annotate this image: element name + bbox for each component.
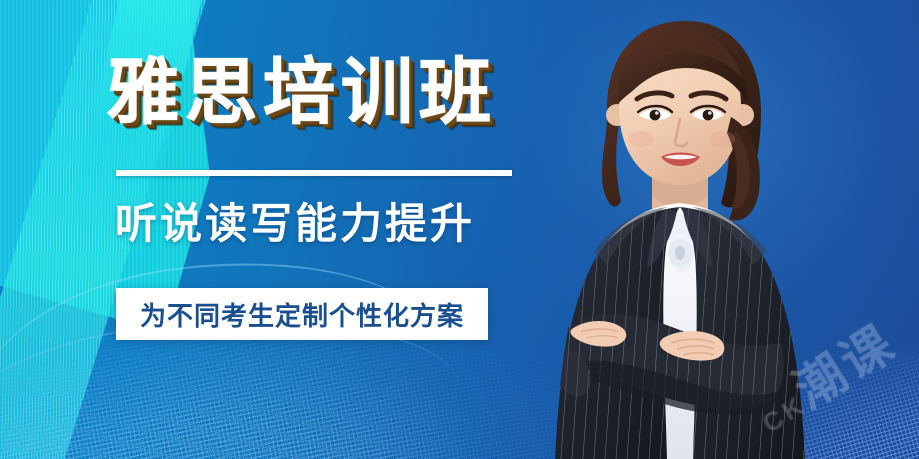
tagline-text: 为不同考生定制个性化方案: [140, 296, 464, 333]
promo-banner: 雅思培训班 听说读写能力提升 为不同考生定制个性化方案 CK潮课: [0, 0, 919, 459]
title-divider-rule: [116, 170, 512, 176]
headline-block: 雅思培训班 听说读写能力提升 为不同考生定制个性化方案: [0, 0, 560, 459]
subtitle: 听说读写能力提升: [115, 198, 475, 251]
tagline-badge: 为不同考生定制个性化方案: [116, 288, 488, 340]
page-title: 雅思培训班: [107, 57, 497, 129]
